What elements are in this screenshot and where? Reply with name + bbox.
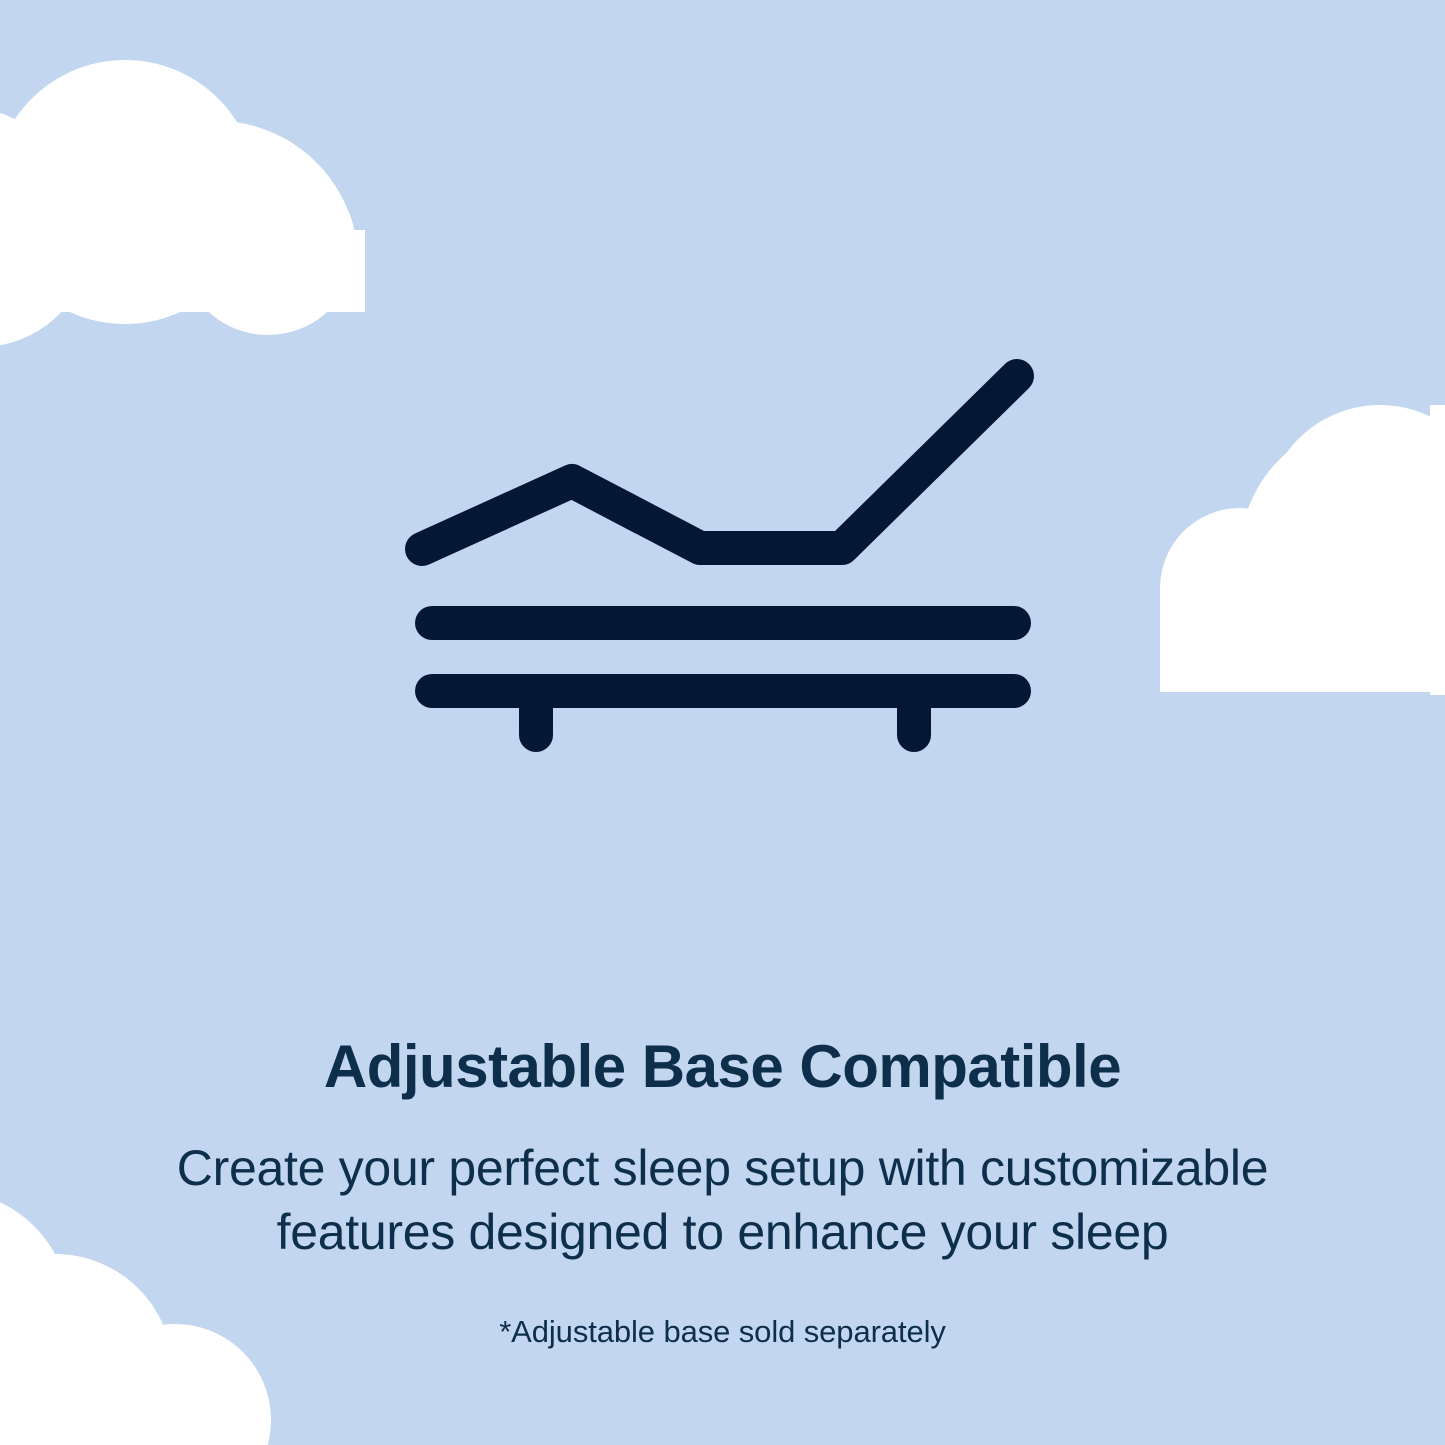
right-leg [897,690,931,752]
subtitle-line-2: features designed to enhance your sleep [277,1204,1169,1260]
page-title: Adjustable Base Compatible [0,1030,1445,1104]
subtitle-line-1: Create your perfect sleep setup with cus… [177,1140,1268,1196]
lower-rail [415,674,1031,708]
disclaimer-footnote: *Adjustable base sold separately [0,1312,1445,1352]
upper-rail [415,606,1031,640]
mattress-profile-path [422,376,1017,549]
left-leg [519,690,553,752]
feature-card: Adjustable Base Compatible Create your p… [0,0,1445,1445]
feature-subtitle: Create your perfect sleep setup with cus… [43,1136,1403,1264]
feature-text-block: Adjustable Base Compatible Create your p… [0,1030,1445,1352]
